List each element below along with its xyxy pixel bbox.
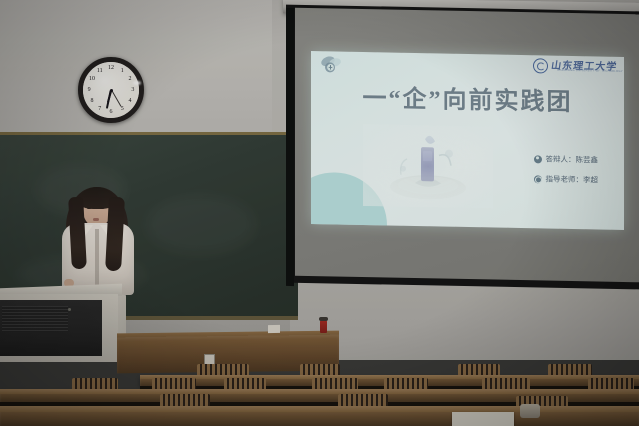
classroom-presentation-photo: 12 1 2 3 4 5 6 7 8 9 10 11 MITSUBISHI: [0, 0, 639, 426]
clock-numeral-9: 9: [88, 87, 91, 93]
desk-white-box: [268, 325, 280, 333]
desk-surface: [0, 406, 639, 412]
clock-numeral-5: 5: [121, 106, 124, 112]
clock-minute-hand: [106, 90, 112, 109]
slide-title: 一“企”向前实践团: [311, 77, 624, 118]
slide-credits: 答辩人：陈芸鑫 指导老师：李超: [534, 153, 599, 185]
clock-numeral-3: 3: [131, 87, 134, 93]
presentation-slide: 山东理工大学 SHANDONG UNIVERSITY OF TECHNOLOGY…: [311, 51, 624, 230]
wall-clock: 12 1 2 3 4 5 6 7 8 9 10 11: [78, 57, 144, 123]
shirt-placket: [95, 229, 99, 291]
clock-numeral-4: 4: [129, 98, 132, 104]
collar-left: [85, 225, 93, 236]
clock-numeral-6: 6: [110, 109, 113, 115]
paper-sheet: [452, 412, 514, 426]
person-icon: [534, 155, 542, 163]
clock-glare: [133, 81, 141, 85]
globe-icon: [534, 175, 542, 183]
clock-numeral-10: 10: [89, 76, 95, 82]
projector-screen-left-edge: [286, 8, 294, 286]
desk-clutter: [520, 404, 540, 418]
clock-second-hand: [111, 90, 121, 107]
clock-face: 12 1 2 3 4 5 6 7 8 9 10 11: [83, 62, 139, 118]
podium-vents: [2, 306, 68, 332]
clock-numeral-8: 8: [90, 98, 93, 104]
clock-numeral-11: 11: [97, 68, 103, 74]
desk-surface: [0, 389, 639, 394]
podium-indicator-light: [68, 308, 71, 311]
credit-advisor-label: 指导老师：李超: [546, 173, 599, 185]
desk-red-thermos: [320, 320, 327, 333]
right-eye: [100, 207, 104, 209]
credit-presenter: 答辩人：陈芸鑫: [534, 153, 599, 165]
clock-numeral-7: 7: [98, 106, 101, 112]
slide-illustration: [363, 124, 493, 208]
left-eye: [87, 207, 91, 209]
university-seal-icon: [533, 58, 548, 73]
clock-numeral-2: 2: [129, 76, 132, 82]
mouth: [93, 218, 99, 221]
clock-center-pin: [110, 89, 113, 92]
credit-presenter-label: 答辩人：陈芸鑫: [546, 153, 599, 165]
credit-advisor: 指导老师：李超: [534, 173, 599, 185]
clock-numeral-1: 1: [121, 68, 124, 74]
clock-numeral-12: 12: [108, 65, 114, 71]
leaf-badge-icon: [319, 56, 345, 74]
